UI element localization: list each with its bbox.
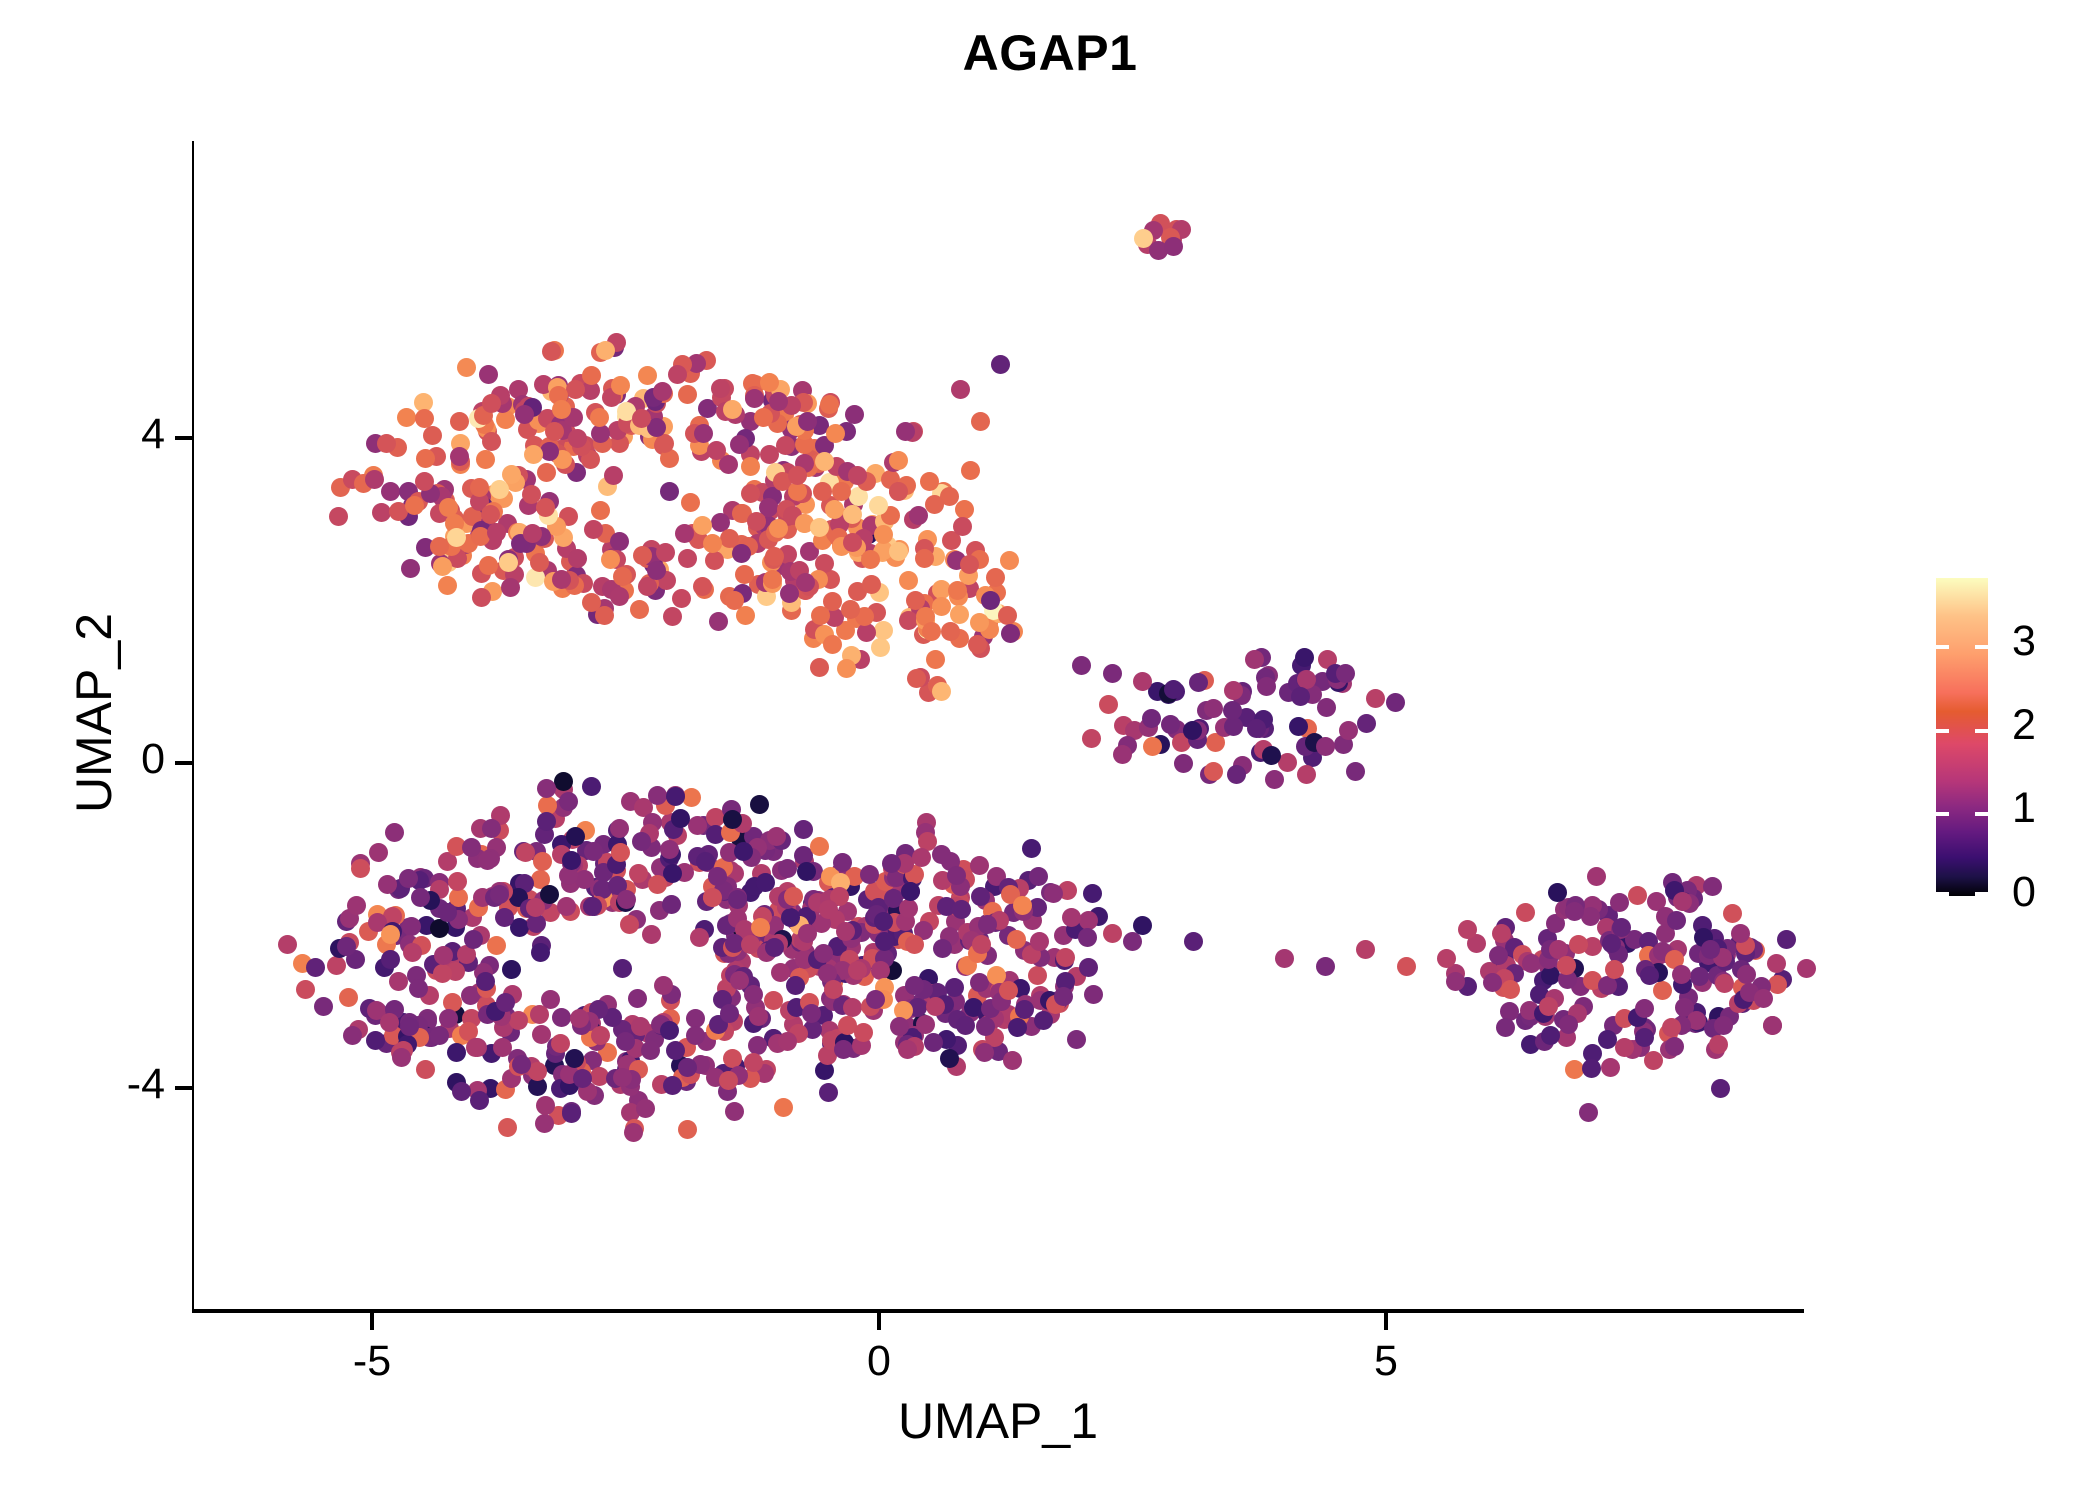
scatter-point <box>1054 987 1073 1006</box>
scatter-point <box>947 866 966 885</box>
scatter-point <box>339 988 358 1007</box>
scatter-point <box>1763 1016 1782 1035</box>
scatter-point <box>748 1036 767 1055</box>
scatter-point <box>764 991 783 1010</box>
scatter-point <box>616 1032 635 1051</box>
scatter-point <box>788 466 807 485</box>
scatter-point <box>1356 940 1375 959</box>
scatter-point <box>1103 664 1122 683</box>
scatter-point <box>1174 754 1193 773</box>
scatter-point <box>591 1026 610 1045</box>
scatter-point <box>537 463 556 482</box>
scatter-point <box>630 600 649 619</box>
scatter-point <box>613 959 632 978</box>
scatter-point <box>750 795 769 814</box>
page-title: AGAP1 <box>0 24 2100 82</box>
scatter-point <box>678 1120 697 1139</box>
scatter-point <box>552 1008 571 1027</box>
scatter-point <box>415 472 434 491</box>
scatter-point <box>1056 948 1075 967</box>
scatter-point <box>433 557 452 576</box>
scatter-point <box>1142 709 1161 728</box>
scatter-point <box>479 365 498 384</box>
scatter-point <box>1601 1058 1620 1077</box>
scatter-point <box>450 447 469 466</box>
scatter-point <box>1297 765 1316 784</box>
scatter-point <box>402 917 421 936</box>
scatter-point <box>976 1017 995 1036</box>
scatter-point <box>666 1041 685 1060</box>
scatter-point <box>933 939 952 958</box>
scatter-point <box>924 1033 943 1052</box>
scatter-point <box>380 1013 399 1032</box>
scatter-point <box>610 532 629 551</box>
scatter-point <box>1008 1018 1027 1037</box>
scatter-point <box>690 928 709 947</box>
scatter-point <box>430 919 449 938</box>
scatter-point <box>736 606 755 625</box>
scatter-point <box>636 1099 655 1118</box>
scatter-point <box>922 622 941 641</box>
scatter-point <box>916 1015 935 1034</box>
scatter-point <box>411 888 430 907</box>
scatter-point <box>1044 884 1063 903</box>
scatter-point <box>774 1098 793 1117</box>
scatter-point <box>573 1069 592 1088</box>
scatter-point <box>1247 719 1266 738</box>
scatter-point <box>720 1004 739 1023</box>
scatter-point <box>1714 1016 1733 1035</box>
scatter-point <box>452 1082 471 1101</box>
scatter-point <box>1062 908 1081 927</box>
scatter-point <box>1297 670 1316 689</box>
scatter-point <box>610 819 629 838</box>
colorbar-tick-mark <box>1975 729 1988 733</box>
scatter-point <box>694 424 713 443</box>
scatter-point <box>811 606 830 625</box>
scatter-point <box>948 581 967 600</box>
scatter-point <box>462 838 481 857</box>
scatter-point <box>1672 965 1691 984</box>
scatter-point <box>1164 237 1183 256</box>
scatter-point <box>950 605 969 624</box>
scatter-point <box>502 960 521 979</box>
scatter-point <box>1541 1026 1560 1045</box>
scatter-point <box>604 466 623 485</box>
scatter-point <box>663 1076 682 1095</box>
scatter-point <box>1083 884 1102 903</box>
scatter-point <box>820 395 839 414</box>
scatter-point <box>1565 902 1584 921</box>
scatter-point <box>678 385 697 404</box>
scatter-point <box>632 409 651 428</box>
scatter-point <box>745 389 764 408</box>
scatter-point <box>709 612 728 631</box>
scatter-point <box>1489 946 1508 965</box>
scatter-point <box>798 924 817 943</box>
x-tick-label: 5 <box>1326 1337 1446 1386</box>
scatter-point <box>1557 956 1576 975</box>
scatter-point <box>732 544 751 563</box>
scatter-point <box>848 466 867 485</box>
scatter-point <box>920 472 939 491</box>
scatter-point <box>999 981 1018 1000</box>
scatter-point <box>278 935 297 954</box>
colorbar-gradient <box>1936 578 1988 896</box>
scatter-point <box>515 405 534 424</box>
scatter-point <box>899 571 918 590</box>
scatter-point <box>499 553 518 572</box>
scatter-plot-panel <box>194 141 1804 1309</box>
scatter-point <box>1164 680 1183 699</box>
scatter-point <box>1204 699 1223 718</box>
scatter-point <box>925 495 944 514</box>
scatter-point <box>1653 981 1672 1000</box>
scatter-point <box>754 408 773 427</box>
scatter-point <box>1022 839 1041 858</box>
scatter-point <box>583 897 602 916</box>
scatter-point <box>955 500 974 519</box>
scatter-point <box>991 355 1010 374</box>
scatter-point <box>329 507 348 526</box>
x-tick-mark <box>1384 1313 1388 1330</box>
scatter-point <box>751 918 770 937</box>
scatter-point <box>438 576 457 595</box>
scatter-point <box>1437 949 1456 968</box>
scatter-point <box>487 936 506 955</box>
x-axis-title: UMAP_1 <box>192 1392 1804 1450</box>
scatter-point <box>482 432 501 451</box>
scatter-point <box>416 1060 435 1079</box>
scatter-point <box>848 961 867 980</box>
scatter-point <box>314 997 333 1016</box>
scatter-point <box>545 422 564 441</box>
scatter-point <box>1667 911 1686 930</box>
scatter-point <box>1265 770 1284 789</box>
scatter-point <box>889 542 908 561</box>
scatter-point <box>1000 551 1019 570</box>
scatter-point <box>1723 904 1742 923</box>
scatter-point <box>1539 997 1558 1016</box>
scatter-point <box>552 570 571 589</box>
scatter-point <box>972 935 991 954</box>
scatter-point <box>1673 892 1692 911</box>
scatter-point <box>501 578 520 597</box>
scatter-point <box>385 823 404 842</box>
scatter-point <box>744 985 763 1004</box>
scatter-point <box>542 342 561 361</box>
scatter-point <box>613 567 632 586</box>
scatter-point <box>582 366 601 385</box>
scatter-point <box>476 972 495 991</box>
scatter-point <box>596 341 615 360</box>
scatter-point <box>786 976 805 995</box>
scatter-point <box>347 896 366 915</box>
scatter-point <box>611 376 630 395</box>
scatter-point <box>369 843 388 862</box>
scatter-point <box>889 482 908 501</box>
x-tick-mark <box>877 1313 881 1330</box>
scatter-point <box>834 1040 853 1059</box>
scatter-point <box>1029 867 1048 886</box>
scatter-point <box>778 1032 797 1051</box>
scatter-point <box>1204 762 1223 781</box>
scatter-point <box>784 887 803 906</box>
scatter-point <box>1003 1051 1022 1070</box>
scatter-point <box>663 607 682 626</box>
scatter-point <box>837 659 856 678</box>
scatter-point <box>971 412 990 431</box>
scatter-point <box>575 870 594 889</box>
colorbar-tick-mark <box>1975 812 1988 816</box>
scatter-point <box>760 373 779 392</box>
scatter-point <box>1516 903 1535 922</box>
scatter-point <box>1015 1000 1034 1019</box>
scatter-point <box>1569 935 1588 954</box>
scatter-point <box>648 786 667 805</box>
scatter-point <box>641 1041 660 1060</box>
scatter-point <box>430 1026 449 1045</box>
scatter-point <box>617 890 636 909</box>
scatter-point <box>1754 989 1773 1008</box>
scatter-point <box>610 587 629 606</box>
scatter-point <box>423 426 442 445</box>
scatter-point <box>899 611 918 630</box>
scatter-point <box>1397 957 1416 976</box>
scatter-point <box>1339 721 1358 740</box>
scatter-point <box>1610 893 1629 912</box>
scatter-point <box>642 925 661 944</box>
scatter-point <box>735 565 754 584</box>
scatter-point <box>397 408 416 427</box>
scatter-point <box>1587 867 1606 886</box>
scatter-point <box>1768 975 1787 994</box>
scatter-point <box>434 946 453 965</box>
scatter-point <box>741 457 760 476</box>
scatter-point <box>433 964 452 983</box>
scatter-point <box>824 980 843 999</box>
scatter-point <box>953 517 972 536</box>
scatter-point <box>530 553 549 572</box>
scatter-point <box>940 1049 959 1068</box>
scatter-point <box>590 408 609 427</box>
scatter-point <box>1099 695 1118 714</box>
scatter-point <box>401 559 420 578</box>
scatter-point <box>1559 1015 1578 1034</box>
scatter-point <box>912 848 931 867</box>
scatter-point <box>907 669 926 688</box>
scatter-point <box>296 980 315 999</box>
scatter-point <box>970 973 989 992</box>
scatter-point <box>1316 957 1335 976</box>
chart-root: AGAP1 -505-404 UMAP_1 UMAP_2 0123 <box>0 0 2100 1500</box>
scatter-point <box>896 422 915 441</box>
scatter-point <box>723 810 742 829</box>
scatter-point <box>568 549 587 568</box>
scatter-point <box>734 842 753 861</box>
scatter-point <box>472 588 491 607</box>
scatter-point <box>464 930 483 949</box>
scatter-point <box>1662 1018 1681 1037</box>
scatter-point <box>1446 972 1465 991</box>
scatter-point <box>479 556 498 575</box>
scatter-point <box>582 777 601 796</box>
scatter-point <box>562 851 581 870</box>
scatter-point <box>998 606 1017 625</box>
scatter-point <box>1336 664 1355 683</box>
scatter-point <box>666 787 685 806</box>
scatter-point <box>725 1102 744 1121</box>
scatter-point <box>448 872 467 891</box>
x-tick-mark <box>370 1313 374 1330</box>
colorbar-tick-mark <box>1975 645 1988 649</box>
scatter-point <box>1103 924 1122 943</box>
scatter-point <box>1316 737 1335 756</box>
scatter-point <box>660 1021 679 1040</box>
scatter-point <box>1366 689 1385 708</box>
scatter-point <box>524 445 543 464</box>
scatter-point <box>909 506 928 525</box>
colorbar-tick-label: 3 <box>2012 617 2036 666</box>
scatter-point <box>557 897 576 916</box>
scatter-point <box>1001 624 1020 643</box>
scatter-point <box>951 380 970 399</box>
colorbar-tick-label: 1 <box>2012 784 2036 833</box>
scatter-point <box>796 573 815 592</box>
scatter-point <box>1767 954 1786 973</box>
scatter-point <box>671 809 690 828</box>
scatter-point <box>861 550 880 569</box>
color-legend[interactable] <box>1936 578 1988 896</box>
scatter-point <box>430 537 449 556</box>
scatter-point <box>1184 932 1203 951</box>
scatter-point <box>932 682 951 701</box>
scatter-point <box>1635 999 1654 1018</box>
scatter-point <box>981 591 1000 610</box>
scatter-point <box>905 935 924 954</box>
scatter-point <box>537 812 556 831</box>
scatter-point <box>1183 721 1202 740</box>
y-tick-mark <box>175 436 192 440</box>
scatter-point <box>400 1017 419 1036</box>
scatter-point <box>620 915 639 934</box>
scatter-point <box>871 638 890 657</box>
scatter-point <box>537 779 556 798</box>
scatter-point <box>447 1043 466 1062</box>
scatter-point <box>952 900 971 919</box>
scatter-point <box>523 524 542 543</box>
scatter-point <box>1703 877 1722 896</box>
y-tick-mark <box>175 761 192 765</box>
scatter-point <box>1133 916 1152 935</box>
scatter-point <box>926 650 945 669</box>
scatter-point <box>509 1011 528 1030</box>
scatter-point <box>381 950 400 969</box>
scatter-point <box>1030 932 1049 951</box>
scatter-point <box>570 1009 589 1028</box>
scatter-point <box>535 1114 554 1133</box>
scatter-point <box>337 937 356 956</box>
scatter-point <box>1275 949 1294 968</box>
scatter-point <box>866 990 885 1009</box>
scatter-point <box>405 496 424 515</box>
scatter-point <box>381 482 400 501</box>
scatter-point <box>447 528 466 547</box>
scatter-point <box>890 1017 909 1036</box>
scatter-point <box>1715 974 1734 993</box>
scatter-point <box>797 862 816 881</box>
scatter-point <box>703 534 722 553</box>
scatter-point <box>825 500 844 519</box>
scatter-point <box>810 837 829 856</box>
scatter-point <box>551 1034 570 1053</box>
scatter-point <box>552 400 571 419</box>
scatter-point <box>1711 1079 1730 1098</box>
scatter-point <box>1690 967 1709 986</box>
scatter-point <box>926 997 945 1016</box>
scatter-point <box>778 859 797 878</box>
scatter-point <box>638 366 657 385</box>
scatter-point <box>1257 677 1276 696</box>
scatter-point <box>1291 687 1310 706</box>
scatter-point <box>1579 1103 1598 1122</box>
colorbar-tick-mark <box>1936 645 1949 649</box>
scatter-point <box>810 658 829 677</box>
scatter-point <box>516 843 535 862</box>
scatter-point <box>833 853 852 872</box>
scatter-point <box>392 1048 411 1067</box>
scatter-point <box>682 788 701 807</box>
scatter-point <box>481 505 500 524</box>
scatter-point <box>416 449 435 468</box>
scatter-point <box>532 1025 551 1044</box>
scatter-point <box>1582 1059 1601 1078</box>
x-tick-label: 0 <box>819 1337 939 1386</box>
scatter-point <box>1278 753 1297 772</box>
scatter-point <box>631 1017 650 1036</box>
scatter-point <box>415 409 434 428</box>
scatter-point <box>693 516 712 535</box>
scatter-point <box>874 525 893 544</box>
scatter-point <box>899 899 918 918</box>
scatter-point <box>656 543 675 562</box>
scatter-point <box>403 943 422 962</box>
scatter-point <box>1227 765 1246 784</box>
scatter-point <box>595 606 614 625</box>
scatter-point <box>1522 954 1541 973</box>
scatter-point <box>1548 883 1567 902</box>
scatter-point <box>1501 980 1520 999</box>
scatter-point <box>1665 1037 1684 1056</box>
scatter-point <box>1797 959 1816 978</box>
scatter-point <box>819 900 838 919</box>
scatter-point <box>662 895 681 914</box>
scatter-point <box>562 1104 581 1123</box>
scatter-point <box>889 451 908 470</box>
scatter-point <box>1346 762 1365 781</box>
scatter-point <box>498 1118 517 1137</box>
scatter-point <box>1635 1028 1654 1047</box>
scatter-point <box>823 635 842 654</box>
scatter-point <box>765 938 784 957</box>
scatter-point <box>1565 1060 1584 1079</box>
scatter-point <box>1386 693 1405 712</box>
scatter-point <box>781 908 800 927</box>
scatter-point <box>611 843 630 862</box>
scatter-point <box>660 840 679 859</box>
scatter-point <box>1737 965 1756 984</box>
scatter-point <box>843 533 862 552</box>
